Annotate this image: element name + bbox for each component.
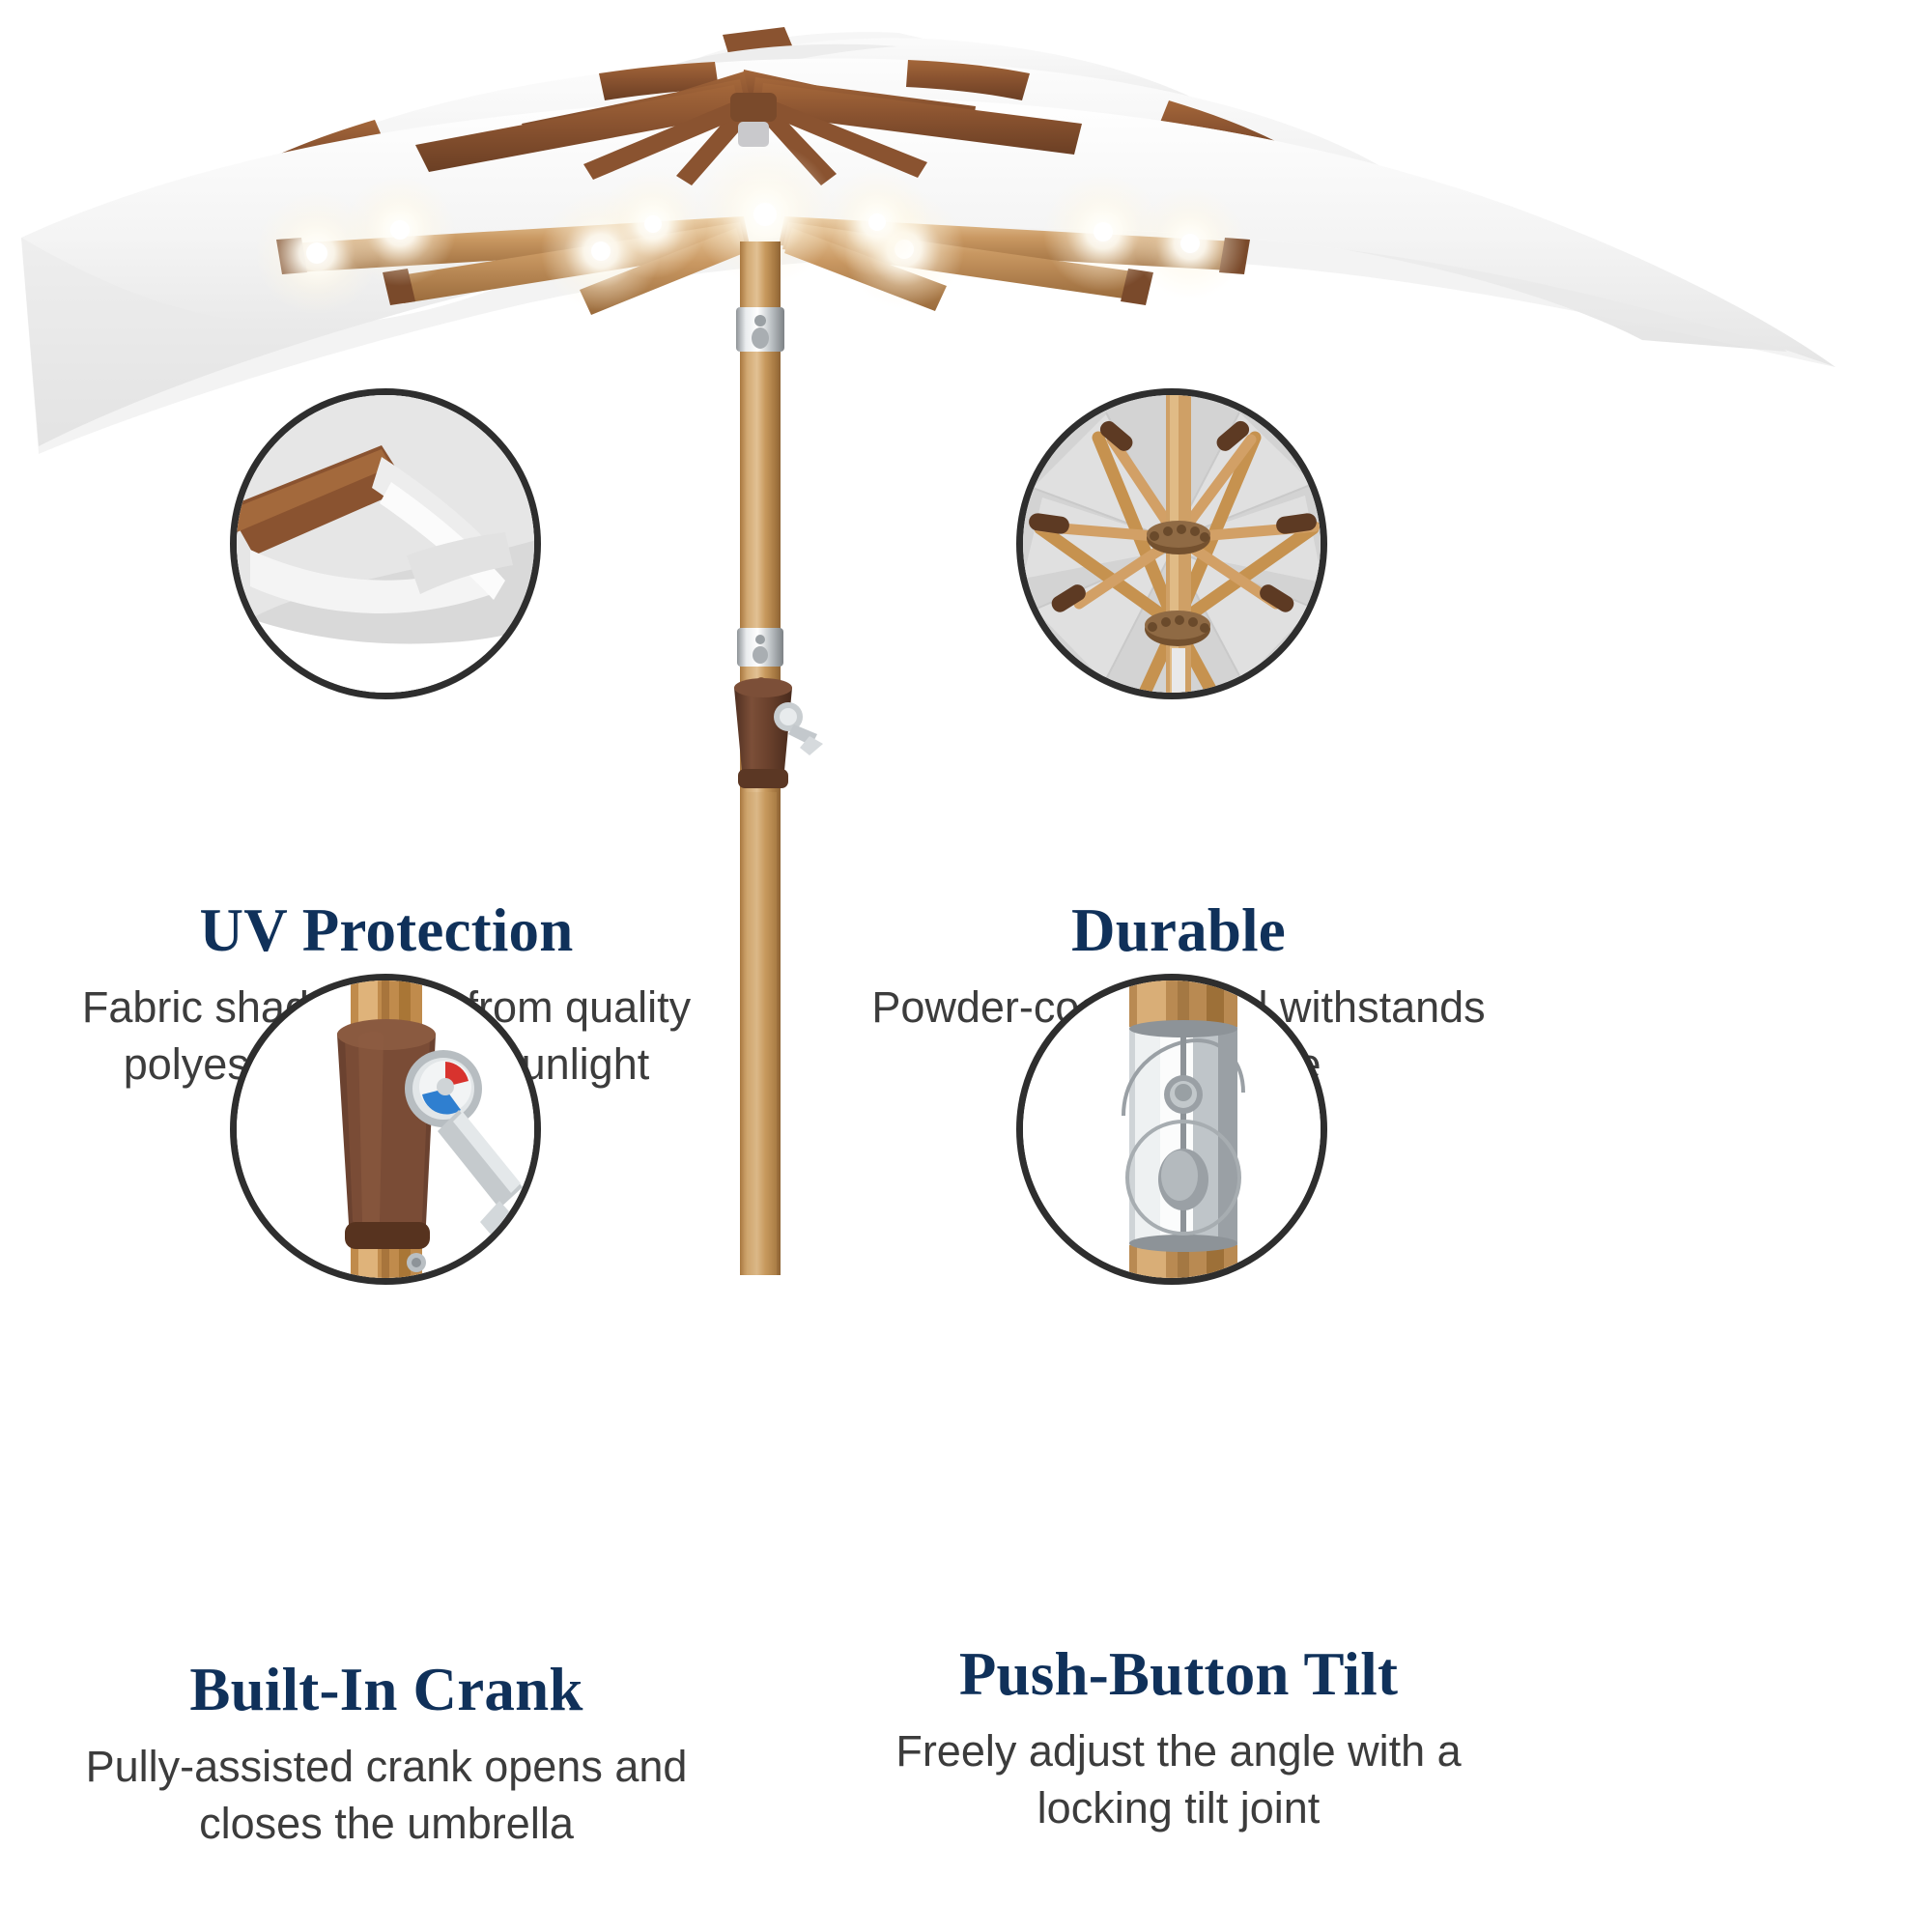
rib-hub-upper [1147, 521, 1210, 554]
canopy-tier-top [628, 27, 1246, 145]
crank-knuckle [405, 1050, 482, 1127]
feature-title-uv-protection: UV Protection [39, 898, 734, 962]
feature-title-built-in-crank: Built-In Crank [39, 1658, 734, 1721]
feature-text-push-button-tilt: Push-Button Tilt Freely adjust the angle… [831, 1642, 1526, 1836]
crank-mechanism [734, 678, 823, 788]
push-button [1164, 1075, 1203, 1114]
feature-callout-uv-protection [230, 388, 541, 699]
feature-callout-push-button-tilt [1016, 974, 1327, 1285]
infographic-canvas: UV Protection Fabric shade made from qua… [0, 0, 1932, 1932]
rib-hub-lower [1145, 611, 1210, 646]
feature-desc-line: locking tilt joint [831, 1780, 1526, 1837]
canopy-rib-frame-lower [255, 143, 1250, 315]
canopy-tier-bottom [21, 98, 1835, 454]
canopy-tier-middle [278, 58, 1420, 249]
feature-desc-line: closes the umbrella [39, 1796, 734, 1853]
feature-desc-built-in-crank: Pully-assisted crank opens and closes th… [39, 1739, 734, 1852]
feature-text-built-in-crank: Built-In Crank Pully-assisted crank open… [39, 1658, 734, 1852]
feature-callout-durable [1016, 388, 1327, 699]
feature-desc-line: Freely adjust the angle with a [831, 1723, 1526, 1780]
feature-desc-push-button-tilt: Freely adjust the angle with a locking t… [831, 1723, 1526, 1836]
feature-callout-built-in-crank [230, 974, 541, 1285]
tilt-joint [736, 307, 784, 352]
feature-desc-line: Pully-assisted crank opens and [39, 1739, 734, 1796]
umbrella-pole [736, 241, 784, 1275]
canopy-rib-frame-upper [415, 70, 1082, 185]
product-hero-image [0, 0, 1932, 1662]
finial [723, 27, 794, 73]
led-lights [255, 143, 1246, 315]
feature-title-durable: Durable [831, 898, 1526, 962]
feature-title-push-button-tilt: Push-Button Tilt [831, 1642, 1526, 1706]
